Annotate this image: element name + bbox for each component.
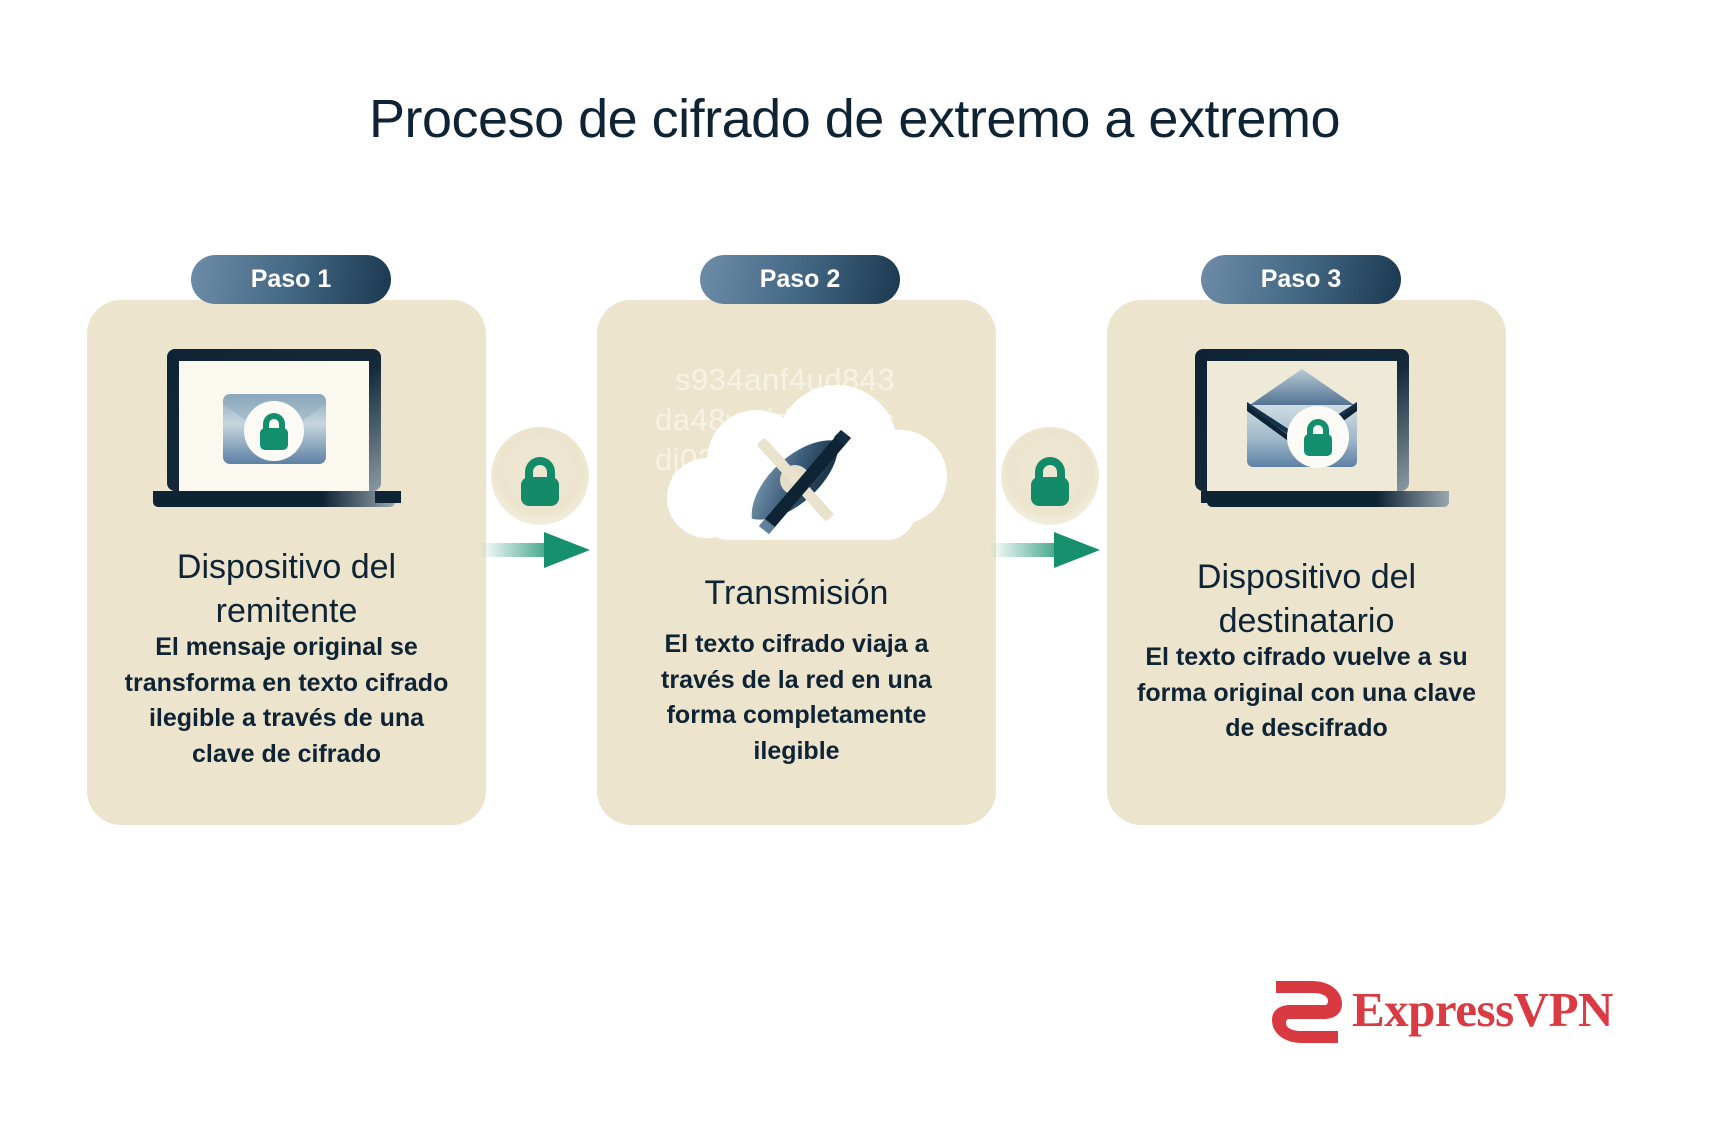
connector-lock-disc-2 [1001,427,1099,525]
step-badge-2: Paso 2 [700,255,900,304]
step-heading-1: Dispositivo del remitente [111,546,462,633]
step-heading-2: Transmisión [621,572,972,616]
connector-2 [996,300,1106,825]
step-card-1: Dispositivo del remitente El mensaje ori… [87,300,486,825]
cloud-eye-slash-icon [645,382,949,557]
step-body-1: El mensaje original se transforma en tex… [115,630,458,772]
expressvpn-e-mark-icon [1268,979,1346,1045]
connector-arrow-1 [480,528,602,572]
step-badge-1: Paso 1 [191,255,391,304]
expressvpn-wordmark: ExpressVPN [1352,981,1613,1038]
padlock-icon [1001,427,1099,525]
page-title: Proceso de cifrado de extremo a extremo [0,88,1709,150]
connector-1 [486,300,596,825]
arrow-right-icon [480,528,602,572]
step-card-3: Dispositivo del destinatario El texto ci… [1107,300,1506,825]
laptop-open-envelope-lock-icon [1181,345,1449,540]
padlock-icon [491,427,589,525]
step-body-3: El texto cifrado vuelve a su forma origi… [1135,640,1478,747]
connector-arrow-2 [990,528,1112,572]
step-body-2: El texto cifrado viaja a través de la re… [625,627,968,769]
laptop-closed-envelope-lock-icon [153,345,421,535]
step-heading-3: Dispositivo del destinatario [1131,556,1482,643]
encryption-flow-diagram: Dispositivo del remitente El mensaje ori… [0,255,1709,855]
arrow-right-icon [990,528,1112,572]
step-card-2: s934anf4ud843 da48waid 4j32hc dj02 43h [597,300,996,825]
step-badge-3: Paso 3 [1201,255,1401,304]
connector-lock-disc-1 [491,427,589,525]
expressvpn-logo: ExpressVPN [1268,975,1558,1055]
